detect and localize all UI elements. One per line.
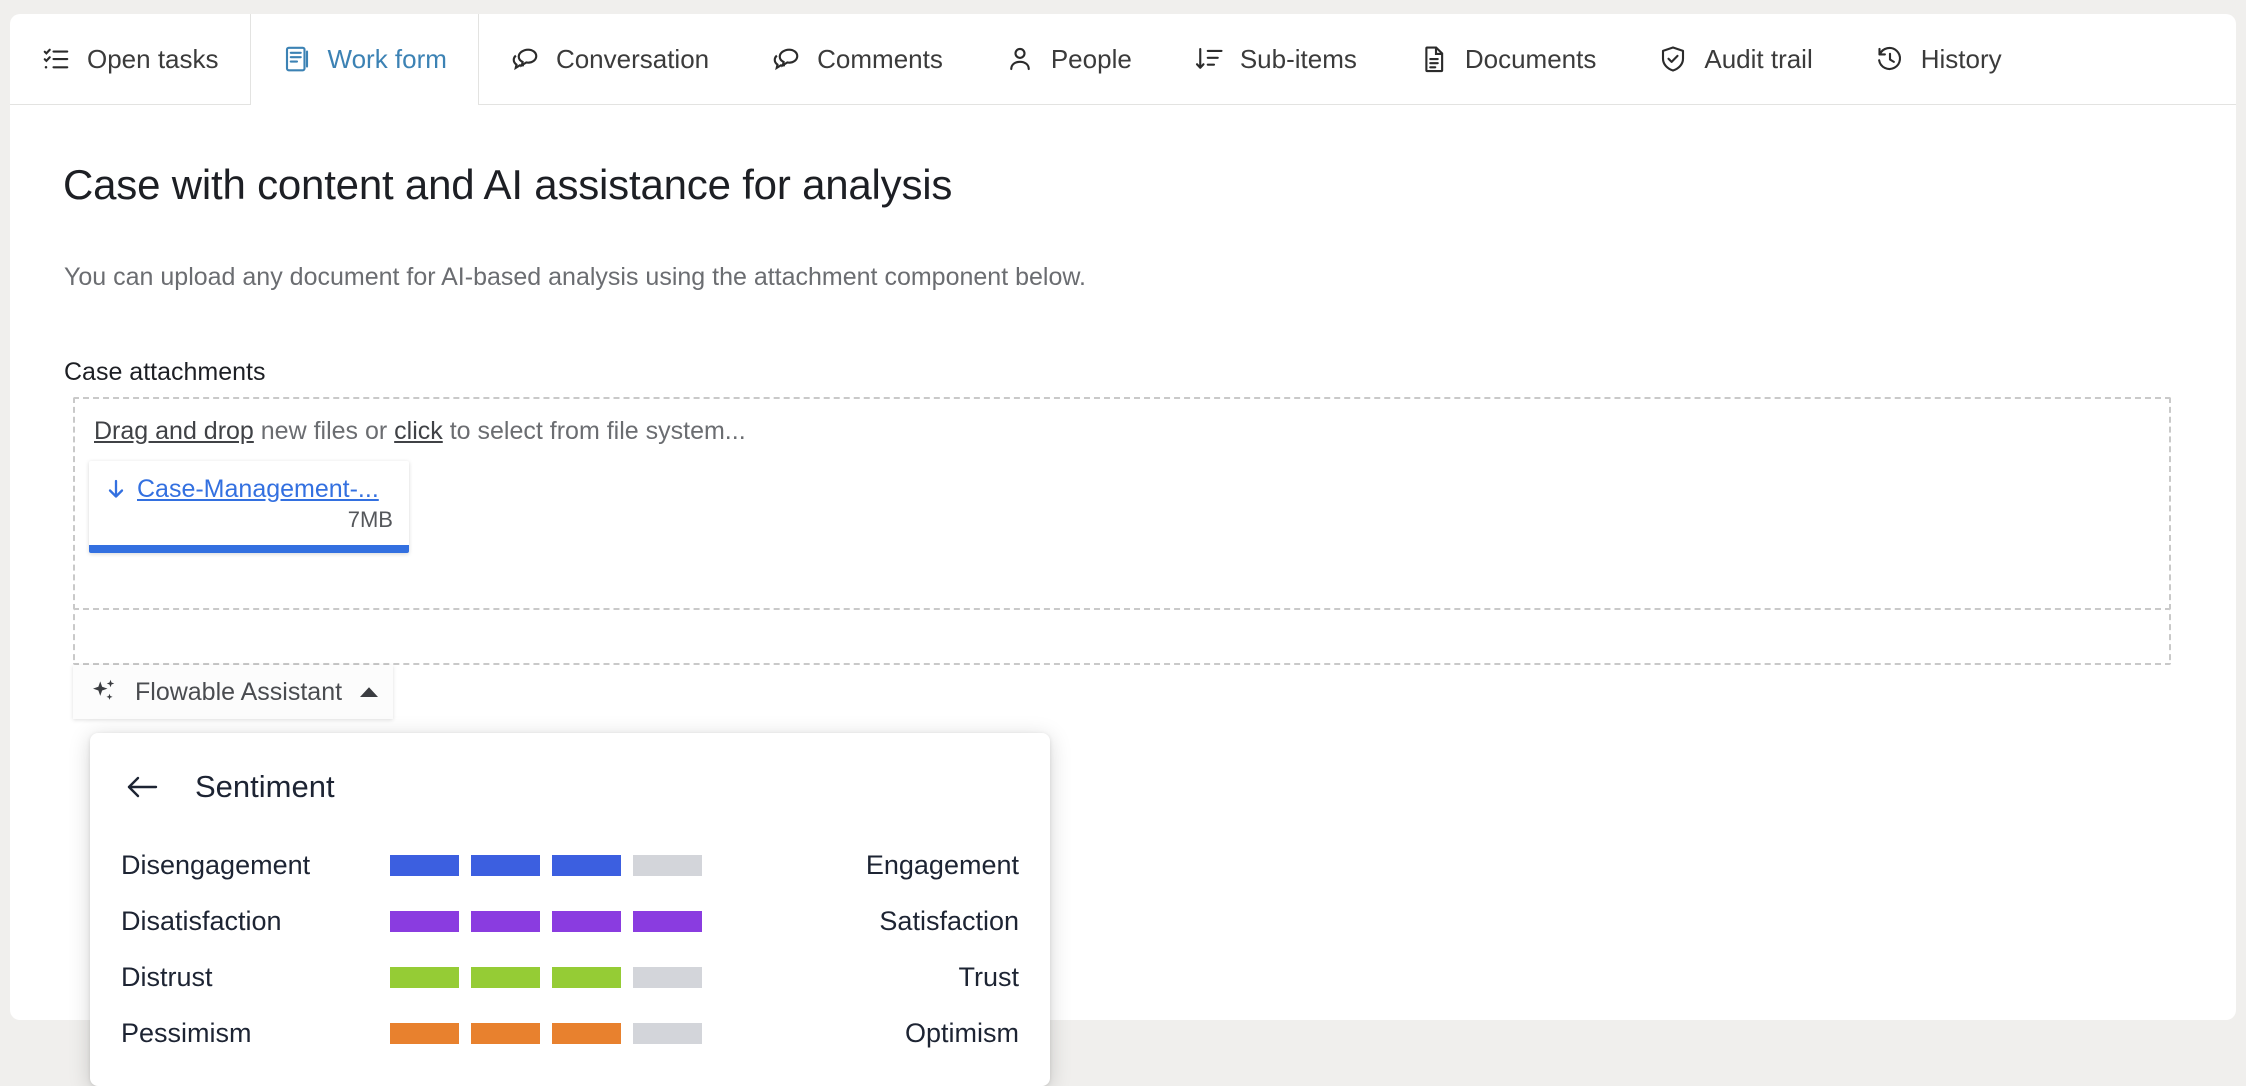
sentiment-positive-label: Satisfaction	[879, 906, 1019, 937]
dropzone-middle-text: new files or	[254, 417, 394, 445]
sentiment-segment-empty	[633, 967, 702, 988]
tab-history[interactable]: History	[1844, 14, 2033, 104]
sentiment-segment-filled	[471, 1023, 540, 1044]
attachment-item[interactable]: Case-Management-... 7MB	[89, 461, 409, 553]
sentiment-positive-label: Optimism	[905, 1018, 1019, 1049]
sentiment-positive-label: Trust	[959, 962, 1020, 993]
sentiment-segment-filled	[390, 911, 459, 932]
clock-rewind-icon	[1875, 44, 1905, 74]
work-form-card: Case with content and AI assistance for …	[10, 105, 2236, 1020]
tab-label: Conversation	[556, 44, 709, 75]
sentiment-segment-filled	[390, 967, 459, 988]
sentiment-segment-filled	[471, 911, 540, 932]
page-description: You can upload any document for AI-based…	[64, 263, 1086, 292]
case-attachments-label: Case attachments	[64, 358, 266, 387]
tab-label: Sub-items	[1240, 44, 1357, 75]
sentiment-panel-title: Sentiment	[195, 769, 335, 805]
sentiment-segment-empty	[633, 855, 702, 876]
sentiment-negative-label: Disatisfaction	[121, 906, 282, 937]
person-icon	[1005, 44, 1035, 74]
sort-descending-icon	[1194, 44, 1224, 74]
tab-conversation[interactable]: Conversation	[479, 14, 740, 104]
tab-label: Open tasks	[87, 44, 219, 75]
sentiment-bar-track	[390, 855, 702, 876]
sentiment-negative-label: Pessimism	[121, 1018, 252, 1049]
attachment-header: Case-Management-...	[89, 461, 409, 504]
tab-comments[interactable]: Comments	[740, 14, 974, 104]
tab-work-form[interactable]: Work form	[250, 14, 479, 104]
download-arrow-icon[interactable]	[105, 477, 127, 503]
sentiment-segment-filled	[633, 911, 702, 932]
sentiment-segment-filled	[552, 855, 621, 876]
sentiment-positive-label: Engagement	[866, 850, 1019, 881]
sentiment-negative-label: Distrust	[121, 962, 213, 993]
sentiment-rows: DisengagementEngagementDisatisfactionSat…	[90, 837, 1050, 1061]
tab-bar: Open tasks Work form Conversation	[10, 14, 2236, 105]
dropzone-instructions: Drag and drop new files or click to sele…	[94, 417, 746, 446]
tab-documents[interactable]: Documents	[1388, 14, 1628, 104]
drag-and-drop-link[interactable]: Drag and drop	[94, 417, 254, 445]
tab-audit-trail[interactable]: Audit trail	[1627, 14, 1843, 104]
arrow-left-icon[interactable]	[125, 773, 159, 801]
shield-check-icon	[1658, 44, 1688, 74]
sentiment-segment-filled	[390, 1023, 459, 1044]
attachment-progress-bar	[89, 545, 409, 553]
sentiment-row: DistrustTrust	[90, 949, 1050, 1005]
sentiment-row: PessimismOptimism	[90, 1005, 1050, 1061]
sentiment-segment-empty	[633, 1023, 702, 1044]
flowable-assistant-button[interactable]: Flowable Assistant	[73, 665, 393, 719]
tab-label: People	[1051, 44, 1132, 75]
sentiment-negative-label: Disengagement	[121, 850, 310, 881]
sentiment-segment-filled	[552, 967, 621, 988]
sentiment-segment-filled	[390, 855, 459, 876]
sentiment-panel-header: Sentiment	[90, 733, 1050, 805]
attachment-dropzone[interactable]: Drag and drop new files or click to sele…	[73, 397, 2171, 610]
tab-label: Work form	[328, 44, 447, 75]
tab-sub-items[interactable]: Sub-items	[1163, 14, 1388, 104]
chat-bubbles-icon	[510, 44, 540, 74]
list-checks-icon	[41, 44, 71, 74]
page-title: Case with content and AI assistance for …	[63, 161, 952, 209]
click-link[interactable]: click	[394, 417, 443, 445]
tab-people[interactable]: People	[974, 14, 1163, 104]
sparkle-icon	[89, 677, 119, 707]
sentiment-bar-track	[390, 911, 702, 932]
document-icon	[1419, 44, 1449, 74]
sentiment-bar-track	[390, 967, 702, 988]
sentiment-row: DisengagementEngagement	[90, 837, 1050, 893]
sentiment-panel: Sentiment DisengagementEngagementDisatis…	[90, 733, 1050, 1086]
tab-label: Comments	[817, 44, 943, 75]
sentiment-segment-filled	[552, 1023, 621, 1044]
tab-open-tasks[interactable]: Open tasks	[10, 14, 250, 104]
assistant-label: Flowable Assistant	[135, 678, 342, 707]
chat-bubbles-icon	[771, 44, 801, 74]
dropzone-tail-text: to select from file system...	[443, 417, 746, 445]
attachment-file-name[interactable]: Case-Management-...	[137, 475, 379, 504]
form-document-icon	[282, 44, 312, 74]
sentiment-bar-track	[390, 1023, 702, 1044]
sentiment-segment-filled	[552, 911, 621, 932]
attachment-file-size: 7MB	[89, 507, 409, 533]
tab-label: History	[1921, 44, 2002, 75]
sentiment-row: DisatisfactionSatisfaction	[90, 893, 1050, 949]
tab-label: Audit trail	[1704, 44, 1812, 75]
sentiment-segment-filled	[471, 967, 540, 988]
chevron-up-icon[interactable]	[358, 685, 380, 699]
sentiment-segment-filled	[471, 855, 540, 876]
tab-label: Documents	[1465, 44, 1597, 75]
attachment-dropzone-secondary[interactable]	[73, 610, 2171, 665]
